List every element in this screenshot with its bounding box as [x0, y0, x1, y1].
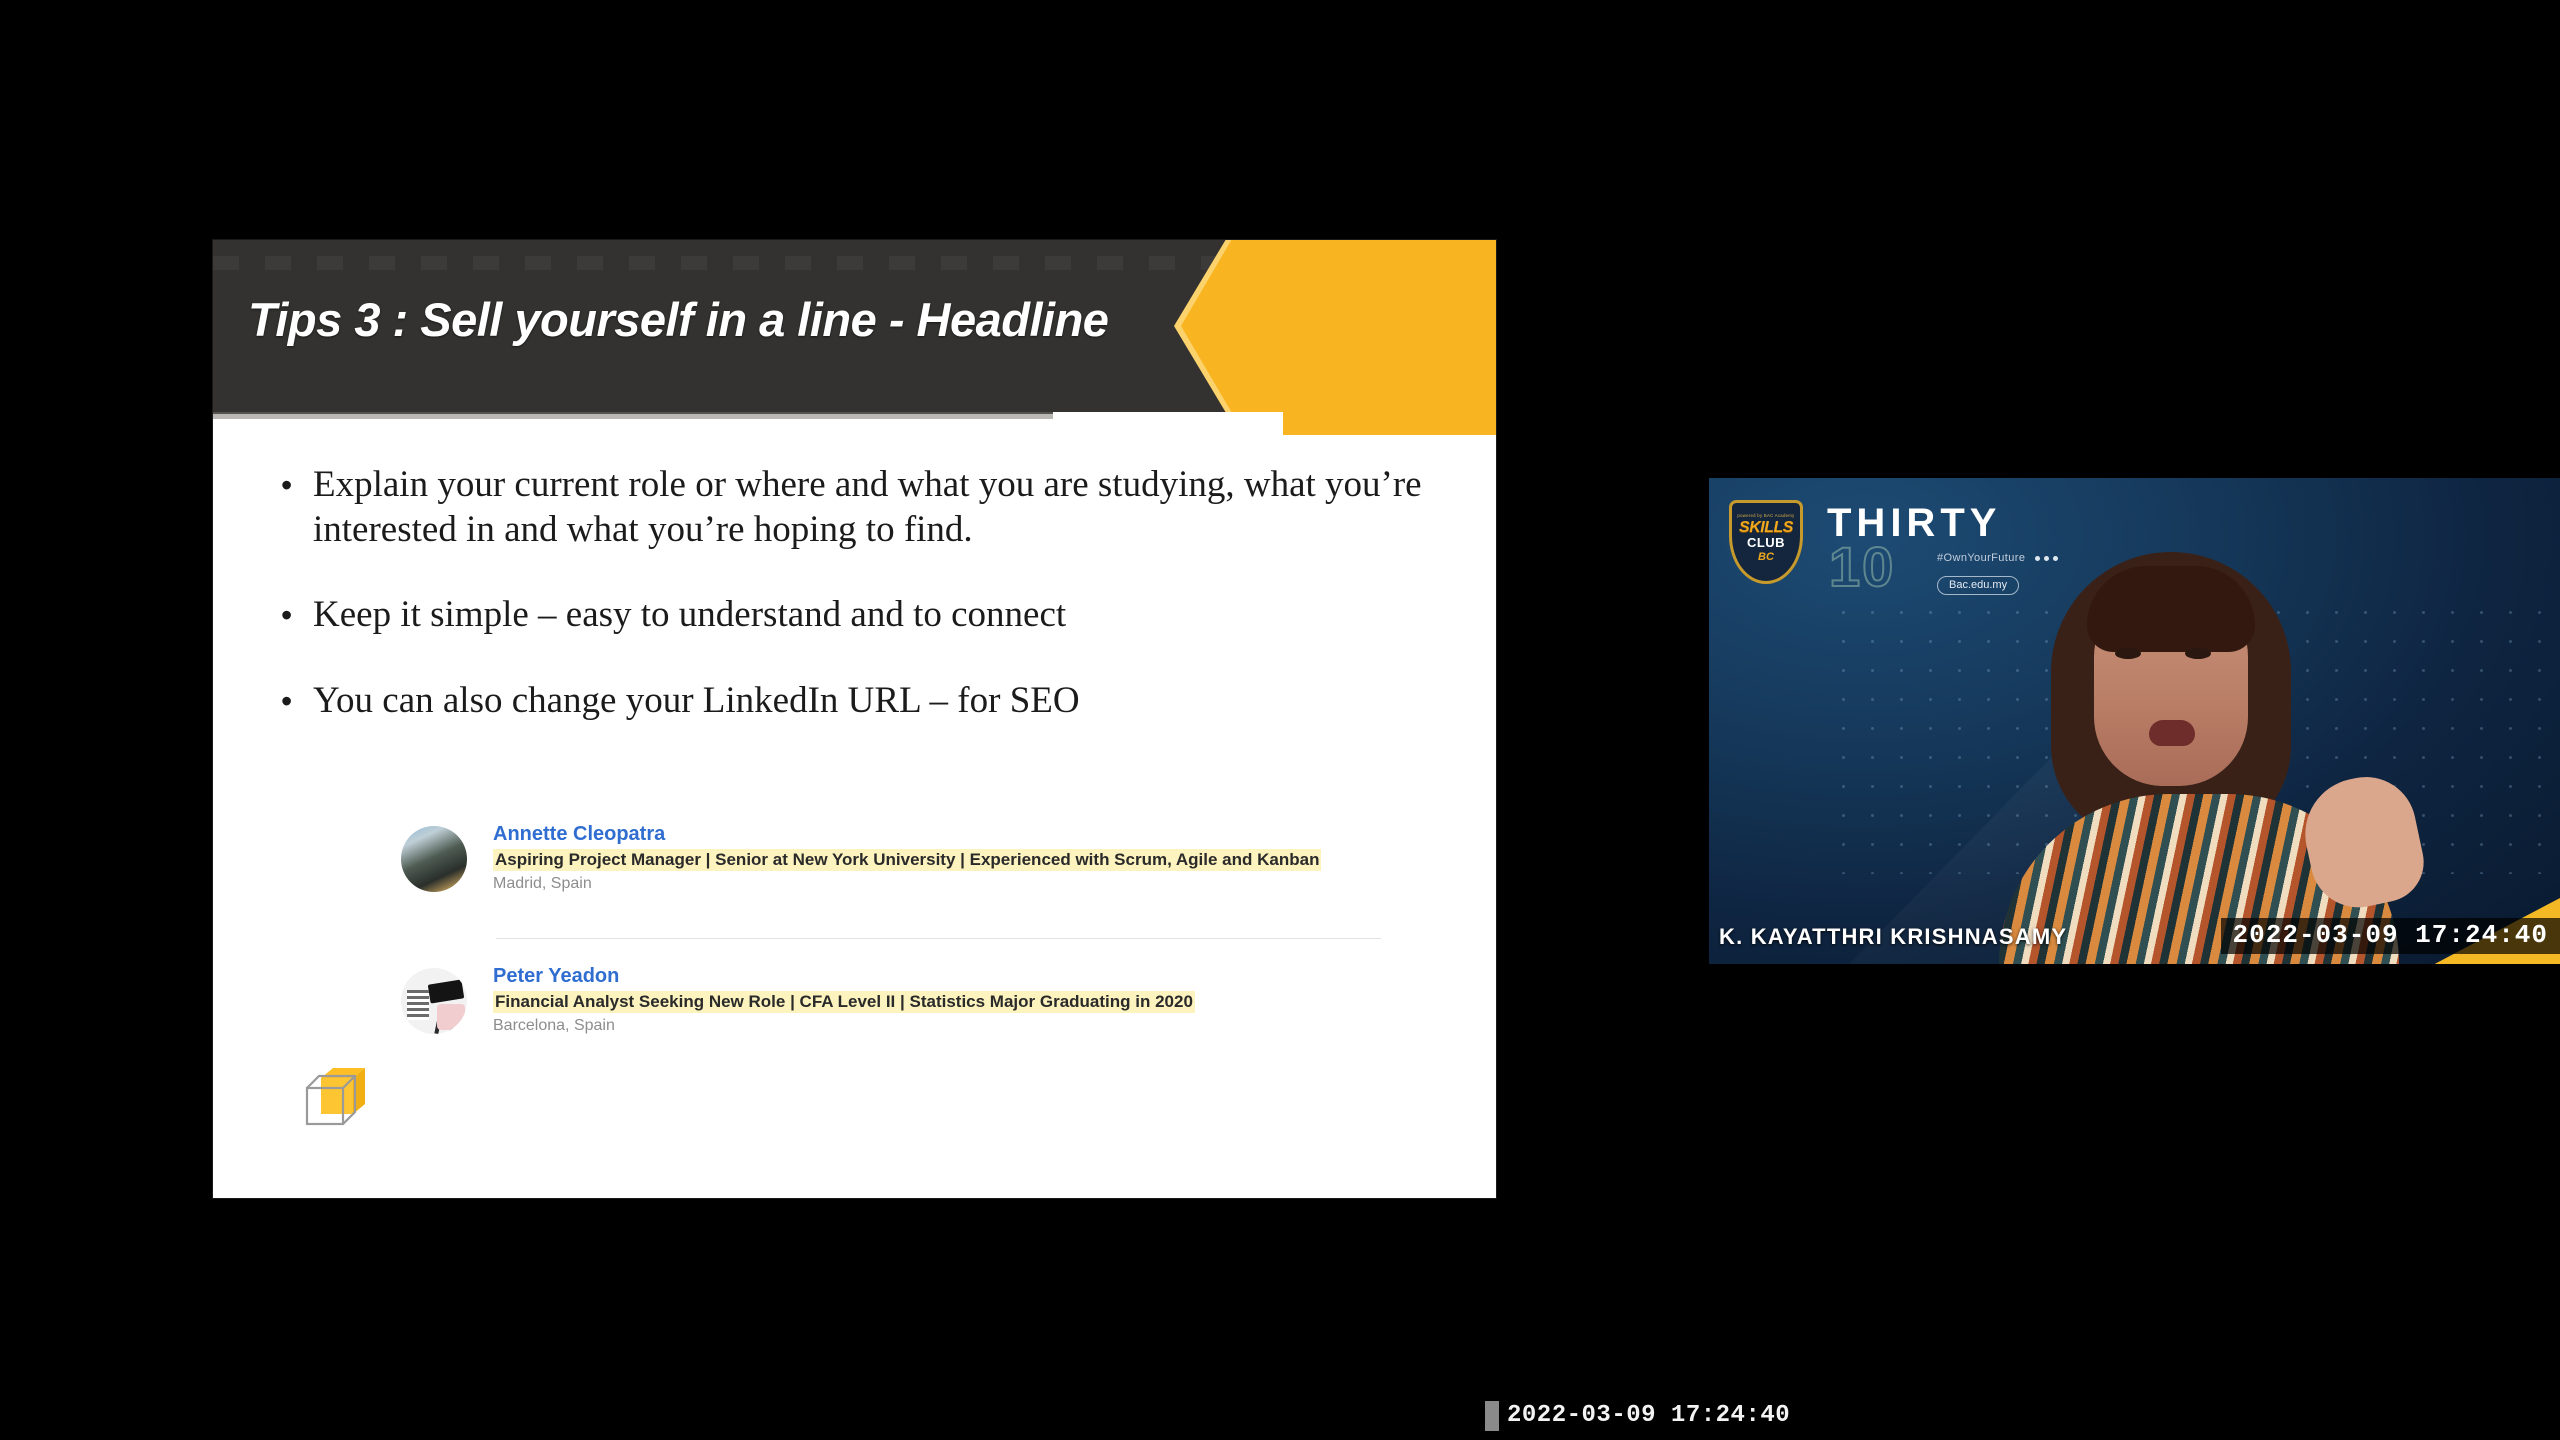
bullet-item: • Explain your current role or where and… — [275, 462, 1435, 552]
presenter-eye — [2185, 648, 2211, 659]
brand-hashtag-text: #OwnYourFuture — [1937, 552, 2025, 564]
profile-example-list: Annette Cleopatra Aspiring Project Manag… — [401, 820, 1421, 1058]
profile-headline: Financial Analyst Seeking New Role | CFA… — [493, 991, 1195, 1013]
avatar-detail — [434, 1008, 443, 1034]
profile-card: Annette Cleopatra Aspiring Project Manag… — [401, 820, 1421, 916]
avatar-detail — [407, 990, 429, 1020]
profile-divider — [496, 938, 1381, 939]
profile-location: Madrid, Spain — [493, 873, 1321, 895]
brand-hashtag: #OwnYourFuture — [1937, 552, 2058, 564]
header-chevron-shape — [1181, 240, 1496, 412]
video-timestamp-overlay: 2022-03-09 17:24:40 — [2221, 918, 2560, 954]
header-chevron-tail — [1283, 412, 1496, 435]
bullet-marker-icon: • — [275, 592, 313, 638]
bullet-text: You can also change your LinkedIn URL – … — [313, 678, 1435, 723]
timestamp-handle — [1485, 1401, 1499, 1431]
bullet-marker-icon: • — [275, 678, 313, 724]
bullet-list: • Explain your current role or where and… — [275, 462, 1435, 764]
bullet-text: Keep it simple – easy to understand and … — [313, 592, 1435, 637]
profile-location: Barcelona, Spain — [493, 1015, 1195, 1037]
bullet-marker-icon: • — [275, 462, 313, 508]
bullet-item: • You can also change your LinkedIn URL … — [275, 678, 1435, 724]
presenter-hair-fringe — [2087, 566, 2255, 652]
presentation-slide: Tips 3 : Sell yourself in a line - Headl… — [213, 240, 1496, 1198]
shield-top-text: powered by BAC Academy — [1734, 513, 1799, 519]
brand-url-pill: Bac.edu.my — [1937, 576, 2019, 595]
webcam-video-panel[interactable]: powered by BAC Academy SKILLS CLUB BC TH… — [1709, 478, 2560, 964]
shield-skills-text: SKILLS — [1732, 519, 1800, 536]
presenter-figure — [1999, 544, 2399, 964]
profile-name: Annette Cleopatra — [493, 822, 1321, 846]
skills-club-shield-icon: powered by BAC Academy SKILLS CLUB BC — [1729, 500, 1803, 584]
presenter-mouth — [2149, 720, 2195, 746]
avatar — [401, 968, 467, 1034]
brand-number: 10 — [1829, 538, 1895, 596]
profile-name: Peter Yeadon — [493, 964, 1195, 988]
avatar-detail — [446, 1008, 454, 1034]
shield-bc-text: BC — [1732, 551, 1800, 564]
presenter-eye — [2115, 648, 2141, 659]
slide-timestamp-overlay: 2022-03-09 17:24:40 — [1485, 1400, 1800, 1432]
avatar — [401, 826, 467, 892]
profile-card: Peter Yeadon Financial Analyst Seeking N… — [401, 962, 1421, 1058]
slide-timestamp-text: 2022-03-09 17:24:40 — [1499, 1401, 1800, 1432]
brand-overlay: powered by BAC Academy SKILLS CLUB BC TH… — [1729, 500, 2001, 584]
profile-body: Peter Yeadon Financial Analyst Seeking N… — [493, 962, 1195, 1037]
bullet-text: Explain your current role or where and w… — [313, 462, 1435, 552]
profile-headline: Aspiring Project Manager | Senior at New… — [493, 849, 1321, 871]
slide-title: Tips 3 : Sell yourself in a line - Headl… — [248, 292, 1108, 347]
brand-text-block: THIRTY 10 #OwnYourFuture Bac.edu.my — [1827, 500, 2001, 544]
presenter-name-label: K. KAYATTHRI KRISHNASAMY — [1719, 924, 2067, 950]
header-rule — [213, 412, 1053, 419]
social-dots-icon — [2035, 556, 2058, 561]
screen-capture: Tips 3 : Sell yourself in a line - Headl… — [0, 0, 2560, 1440]
bullet-item: • Keep it simple – easy to understand an… — [275, 592, 1435, 638]
cube-icon — [295, 1060, 373, 1138]
profile-body: Annette Cleopatra Aspiring Project Manag… — [493, 820, 1321, 895]
shield-club-text: CLUB — [1732, 536, 1800, 550]
